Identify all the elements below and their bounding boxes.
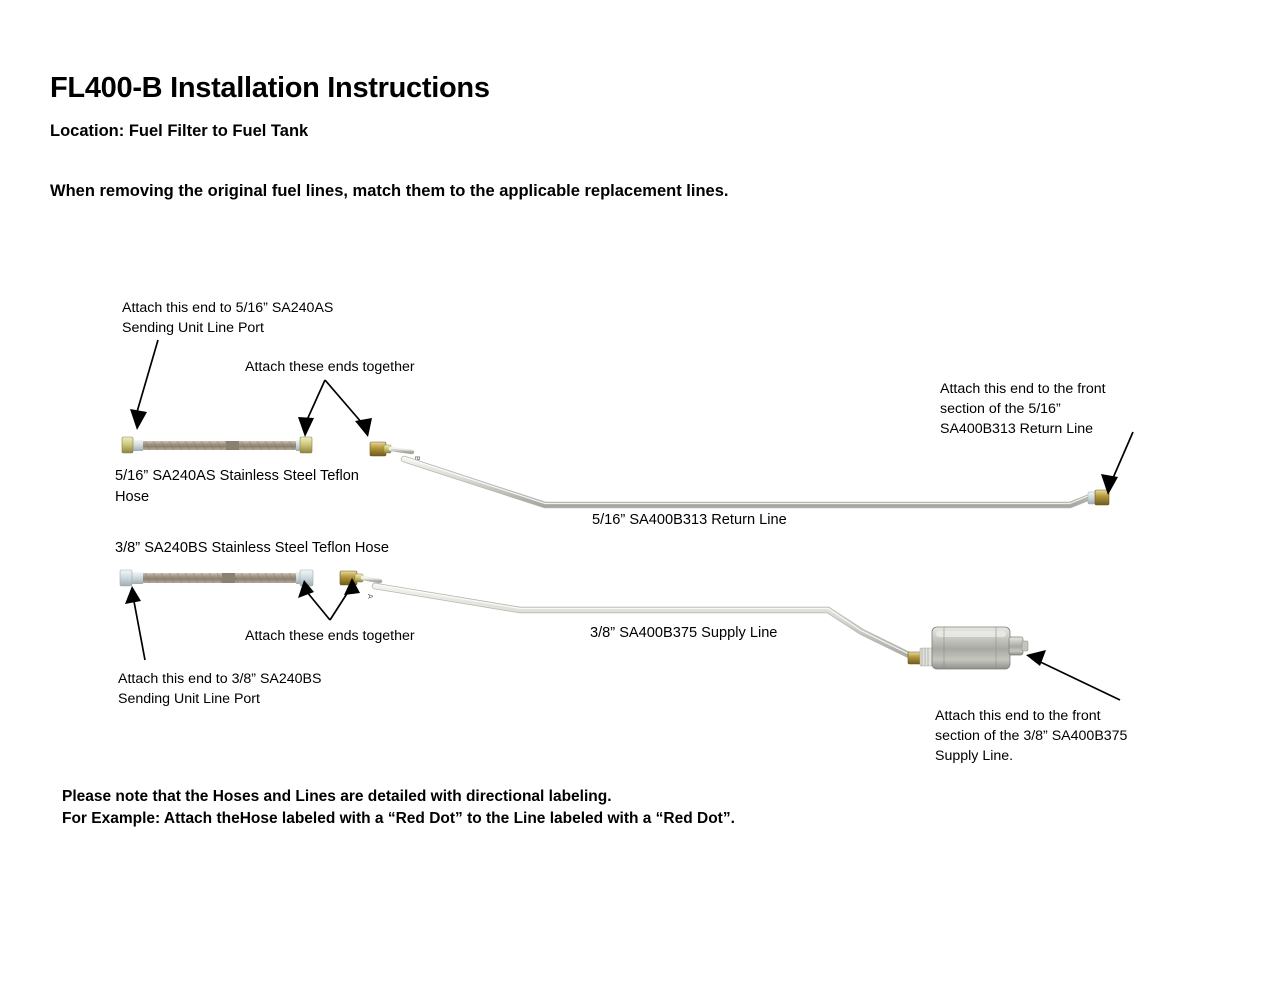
arrow-upper-right-shaft bbox=[1113, 432, 1133, 478]
lead-instruction: When removing the original fuel lines, m… bbox=[50, 182, 728, 201]
return-line-left-fitting bbox=[370, 442, 391, 456]
arrowhead-lower-middle-right bbox=[344, 578, 360, 595]
note-line-1: Please note that the Hoses and Lines are… bbox=[62, 786, 735, 808]
annotation-lower-right: Attach this end to the front section of … bbox=[935, 706, 1127, 766]
supply-line-tube-shadow bbox=[375, 586, 915, 658]
location-subtitle: Location: Fuel Filter to Fuel Tank bbox=[50, 122, 308, 141]
return-line-direction-mark: B bbox=[413, 456, 420, 461]
caption-hose-5-16-line-2: Hose bbox=[115, 487, 359, 508]
caption-hose-5-16-line-1: 5/16” SA240AS Stainless Steel Teflon bbox=[115, 466, 359, 487]
page-title: FL400-B Installation Instructions bbox=[50, 72, 490, 105]
annotation-upper-left-line-2: Sending Unit Line Port bbox=[122, 318, 333, 338]
caption-return-line: 5/16” SA400B313 Return Line bbox=[592, 510, 787, 531]
annotation-upper-middle: Attach these ends together bbox=[245, 357, 415, 377]
annotation-lower-left: Attach this end to 3/8” SA240BS Sending … bbox=[118, 669, 321, 709]
arrow-upper-left-shaft bbox=[137, 340, 158, 412]
arrowhead-upper-left bbox=[130, 409, 147, 430]
fuel-filter-highlight bbox=[936, 631, 1006, 637]
arrow-lower-middle-left-shaft bbox=[307, 592, 330, 620]
caption-hose-5-16: 5/16” SA240AS Stainless Steel Teflon Hos… bbox=[115, 466, 359, 508]
supply-line-tube-highlight bbox=[375, 585, 914, 657]
fuel-filter-inlet-fitting bbox=[908, 648, 932, 666]
arrow-upper-middle-left-shaft bbox=[307, 380, 325, 420]
fuel-filter-outlet-fitting bbox=[1009, 637, 1028, 655]
annotation-lower-middle-line-1: Attach these ends together bbox=[245, 626, 415, 646]
hose-5-16-braid bbox=[141, 441, 299, 450]
annotation-upper-right-line-3: SA400B313 Return Line bbox=[940, 419, 1106, 439]
arrowhead-lower-left bbox=[125, 586, 141, 604]
annotation-lower-left-line-1: Attach this end to 3/8” SA240BS bbox=[118, 669, 321, 689]
annotation-upper-middle-line-1: Attach these ends together bbox=[245, 357, 415, 377]
annotation-lower-middle: Attach these ends together bbox=[245, 626, 415, 646]
hose-5-16-left-brass-nut bbox=[122, 437, 133, 453]
hose-3-8-left-ferrule bbox=[131, 572, 143, 584]
hose-5-16-left-ferrule bbox=[131, 440, 143, 451]
annotation-lower-right-line-2: section of the 3/8” SA400B375 bbox=[935, 726, 1127, 746]
return-line-assembly: B bbox=[370, 442, 1109, 505]
supply-line-assembly: A bbox=[340, 571, 1028, 669]
hose-3-8-right-ferrule bbox=[296, 572, 308, 584]
return-line-stub bbox=[391, 449, 412, 452]
return-line-right-fitting bbox=[1088, 490, 1109, 505]
annotation-lower-left-line-2: Sending Unit Line Port bbox=[118, 689, 321, 709]
arrowhead-lower-right bbox=[1026, 650, 1046, 666]
annotation-lower-right-line-1: Attach this end to the front bbox=[935, 706, 1127, 726]
annotation-upper-right: Attach this end to the front section of … bbox=[940, 379, 1106, 439]
arrowhead-upper-middle-right bbox=[355, 418, 372, 437]
arrow-upper-middle-right-shaft bbox=[325, 380, 362, 423]
supply-line-direction-mark: A bbox=[366, 594, 373, 599]
hose-3-8-right-nut bbox=[300, 570, 313, 586]
annotation-upper-left-line-1: Attach this end to 5/16” SA240AS bbox=[122, 298, 333, 318]
hose-3-8-braid-texture bbox=[145, 573, 294, 583]
arrowhead-upper-middle-left bbox=[298, 417, 314, 437]
return-line-tube-shadow bbox=[404, 459, 1090, 505]
arrow-lower-right-shaft bbox=[1032, 658, 1120, 700]
return-line-tube-highlight bbox=[404, 458, 1089, 504]
hose-5-16-assembly bbox=[122, 437, 312, 453]
hose-3-8-braid bbox=[141, 573, 299, 583]
annotation-upper-left: Attach this end to 5/16” SA240AS Sending… bbox=[122, 298, 333, 338]
fuel-filter-canister bbox=[932, 627, 1010, 669]
hose-3-8-assembly bbox=[120, 570, 313, 586]
supply-line-left-fitting bbox=[340, 571, 363, 585]
supply-line-tube bbox=[375, 586, 915, 658]
return-line-tube bbox=[404, 459, 1090, 505]
supply-line-stub bbox=[363, 578, 380, 581]
annotation-upper-right-line-1: Attach this end to the front bbox=[940, 379, 1106, 399]
hose-5-16-right-brass-nut bbox=[300, 437, 312, 453]
arrowhead-upper-right bbox=[1101, 474, 1118, 495]
instruction-sheet-page: FL400-B Installation Instructions Locati… bbox=[0, 0, 1280, 989]
hose-5-16-braid-texture bbox=[145, 441, 294, 450]
caption-hose-3-8: 3/8” SA240BS Stainless Steel Teflon Hose bbox=[115, 538, 389, 559]
arrow-lower-middle-right-shaft bbox=[330, 592, 348, 620]
note-line-2: For Example: Attach theHose labeled with… bbox=[62, 808, 735, 830]
hose-5-16-right-ferrule bbox=[296, 440, 308, 451]
annotation-lower-right-line-3: Supply Line. bbox=[935, 746, 1127, 766]
annotation-upper-right-line-2: section of the 5/16” bbox=[940, 399, 1106, 419]
arrowhead-lower-middle-left bbox=[298, 580, 314, 598]
hose-3-8-label-band bbox=[222, 573, 235, 583]
arrow-lower-left-shaft bbox=[133, 596, 145, 660]
directional-labeling-note: Please note that the Hoses and Lines are… bbox=[62, 786, 735, 831]
hose-5-16-label-band bbox=[226, 441, 239, 450]
caption-supply-line: 3/8” SA400B375 Supply Line bbox=[590, 623, 777, 644]
hose-3-8-left-nut bbox=[120, 570, 132, 586]
